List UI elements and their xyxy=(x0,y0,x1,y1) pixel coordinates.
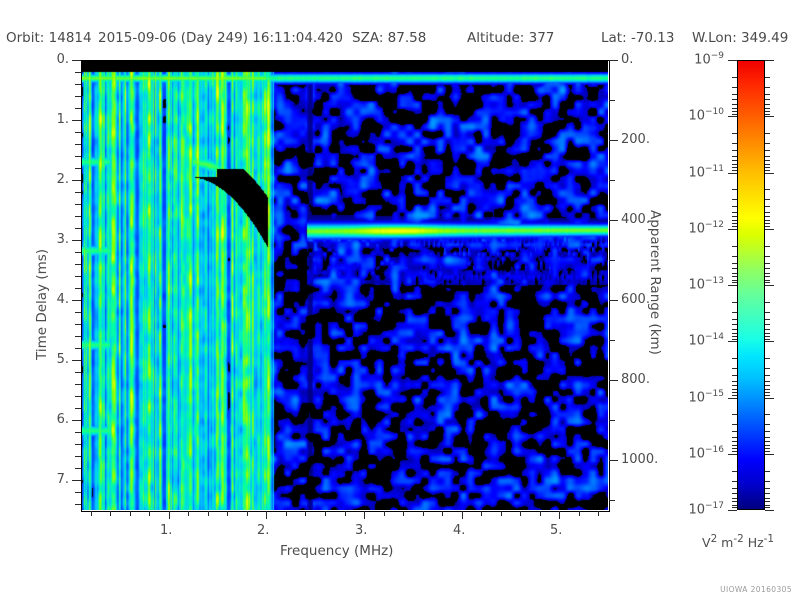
axis-tick xyxy=(609,140,618,141)
y-axis-title: Time Delay (ms) xyxy=(34,249,50,360)
axis-tick xyxy=(75,456,81,457)
axis-tick-label: 2. xyxy=(57,172,69,187)
axis-tick xyxy=(75,384,81,385)
axis-tick xyxy=(501,511,502,516)
axis-tick xyxy=(732,143,737,144)
axis-tick xyxy=(75,408,81,409)
axis-tick xyxy=(732,339,737,340)
header-value-0: 14814 xyxy=(49,30,92,46)
axis-tick xyxy=(728,116,737,117)
axis-tick xyxy=(325,511,326,516)
axis-tick-label: 0. xyxy=(57,52,69,67)
axis-tick xyxy=(75,216,81,217)
axis-tick-label: 7. xyxy=(57,472,69,487)
axis-tick xyxy=(75,276,81,277)
axis-tick xyxy=(765,488,770,489)
axis-tick xyxy=(765,226,770,227)
axis-tick xyxy=(75,396,81,397)
axis-tick xyxy=(169,511,170,519)
axis-tick xyxy=(765,77,770,78)
ionogram-spectrogram-canvas xyxy=(81,60,608,510)
header-label-3: Altitude: xyxy=(467,30,524,46)
axis-tick xyxy=(609,460,618,461)
axis-tick xyxy=(765,156,770,157)
axis-tick xyxy=(732,164,737,165)
axis-tick xyxy=(765,336,770,337)
axis-tick xyxy=(765,220,770,221)
axis-tick xyxy=(728,341,737,342)
axis-tick xyxy=(75,312,81,313)
axis-tick xyxy=(609,380,618,381)
header-label-2: SZA: xyxy=(352,30,383,46)
axis-tick xyxy=(732,256,737,257)
axis-tick xyxy=(732,133,737,134)
axis-tick xyxy=(345,511,346,516)
axis-tick xyxy=(765,116,774,117)
axis-tick xyxy=(208,511,209,516)
axis-tick xyxy=(732,223,737,224)
axis-tick xyxy=(540,511,541,516)
axis-tick xyxy=(728,398,737,399)
axis-tick xyxy=(728,173,737,174)
axis-tick-label: 5. xyxy=(57,352,69,367)
axis-tick xyxy=(732,104,737,105)
axis-tick xyxy=(75,252,81,253)
axis-tick xyxy=(765,319,770,320)
axis-tick xyxy=(305,511,306,516)
header-value-4: -70.13 xyxy=(631,30,675,46)
axis-tick xyxy=(75,168,81,169)
axis-tick xyxy=(732,312,737,313)
axis-tick xyxy=(765,143,770,144)
axis-tick xyxy=(765,223,770,224)
axis-tick xyxy=(75,228,81,229)
axis-tick xyxy=(732,385,737,386)
axis-tick xyxy=(765,312,770,313)
axis-tick xyxy=(765,114,770,115)
axis-tick xyxy=(765,282,770,283)
axis-tick xyxy=(732,448,737,449)
axis-tick xyxy=(765,471,770,472)
axis-tick xyxy=(765,164,770,165)
axis-tick xyxy=(266,511,267,519)
axis-tick xyxy=(765,104,770,105)
colorbar-tick-label: 10−10 xyxy=(688,107,724,123)
axis-tick xyxy=(732,441,737,442)
axis-tick xyxy=(765,216,770,217)
axis-tick xyxy=(765,276,770,277)
axis-tick xyxy=(75,204,81,205)
axis-tick xyxy=(728,60,737,61)
axis-tick xyxy=(732,358,737,359)
axis-tick xyxy=(765,111,770,112)
axis-tick xyxy=(765,507,770,508)
axis-tick xyxy=(72,180,81,181)
axis-tick xyxy=(732,481,737,482)
axis-tick xyxy=(765,395,770,396)
axis-tick xyxy=(732,170,737,171)
axis-tick xyxy=(732,437,737,438)
y2-axis-title: Apparent Range (km) xyxy=(647,210,663,355)
axis-tick xyxy=(732,111,737,112)
axis-tick xyxy=(732,206,737,207)
axis-tick-label: 4. xyxy=(453,523,465,538)
axis-tick xyxy=(765,268,770,269)
axis-tick xyxy=(732,375,737,376)
ionogram-plot-area xyxy=(81,60,608,510)
axis-tick xyxy=(598,511,599,516)
axis-tick xyxy=(765,108,770,109)
axis-tick xyxy=(609,60,618,61)
axis-tick xyxy=(75,504,81,505)
colorbar-unit-label: V2 m-2 Hz-1 xyxy=(702,533,774,550)
axis-tick xyxy=(72,120,81,121)
header-value-3: 377 xyxy=(529,30,555,46)
axis-tick xyxy=(732,280,737,281)
axis-tick xyxy=(765,498,770,499)
axis-tick-label: 3. xyxy=(57,232,69,247)
axis-tick xyxy=(728,285,737,286)
axis-tick xyxy=(732,381,737,382)
axis-tick xyxy=(75,288,81,289)
axis-tick xyxy=(72,480,81,481)
axis-tick xyxy=(732,395,737,396)
axis-tick xyxy=(765,199,770,200)
header-label-5: W.Lon: xyxy=(692,30,737,46)
axis-tick xyxy=(130,511,131,516)
source-credit: UIOWA 20160305 xyxy=(720,585,792,594)
axis-tick xyxy=(384,511,385,516)
axis-tick xyxy=(732,424,737,425)
axis-tick xyxy=(75,372,81,373)
header-field-5: W.Lon: 349.49 xyxy=(692,30,788,46)
axis-tick xyxy=(732,501,737,502)
axis-tick xyxy=(75,264,81,265)
header-field-3: Altitude: 377 xyxy=(467,30,554,46)
axis-tick xyxy=(75,132,81,133)
axis-tick xyxy=(732,212,737,213)
axis-tick xyxy=(609,340,615,341)
axis-tick xyxy=(765,389,770,390)
axis-tick xyxy=(75,336,81,337)
axis-tick xyxy=(609,220,618,221)
axis-tick xyxy=(75,156,81,157)
axis-tick xyxy=(609,260,615,261)
axis-tick xyxy=(75,492,81,493)
colorbar-tick-label: 10−15 xyxy=(688,389,724,405)
axis-tick xyxy=(732,507,737,508)
axis-tick xyxy=(286,511,287,516)
axis-tick xyxy=(765,229,774,230)
axis-tick-label: 1. xyxy=(57,112,69,127)
axis-tick xyxy=(732,199,737,200)
axis-tick xyxy=(765,280,770,281)
axis-tick xyxy=(765,368,770,369)
axis-tick xyxy=(765,150,770,151)
axis-tick xyxy=(732,77,737,78)
axis-tick xyxy=(732,167,737,168)
axis-tick xyxy=(609,100,615,101)
axis-tick xyxy=(732,505,737,506)
axis-tick xyxy=(72,420,81,421)
axis-tick xyxy=(732,87,737,88)
axis-tick xyxy=(765,448,770,449)
axis-tick xyxy=(732,488,737,489)
axis-tick xyxy=(75,432,81,433)
axis-tick xyxy=(765,246,770,247)
axis-tick xyxy=(227,511,228,516)
header-field-2: SZA: 87.58 xyxy=(352,30,426,46)
axis-tick xyxy=(765,493,770,494)
axis-tick xyxy=(765,212,770,213)
axis-tick xyxy=(110,511,111,516)
header-value-5: 349.49 xyxy=(741,30,788,46)
axis-tick xyxy=(732,160,737,161)
axis-tick-label: 4. xyxy=(57,292,69,307)
axis-tick-label: 3. xyxy=(355,523,367,538)
axis-tick xyxy=(728,454,737,455)
axis-tick xyxy=(75,324,81,325)
axis-tick xyxy=(732,99,737,100)
axis-tick xyxy=(732,156,737,157)
axis-tick xyxy=(520,511,521,516)
axis-tick xyxy=(609,300,618,301)
axis-tick-label: 5. xyxy=(550,523,562,538)
axis-tick xyxy=(765,99,770,100)
axis-tick xyxy=(188,511,189,516)
axis-tick xyxy=(765,94,770,95)
axis-tick xyxy=(765,256,770,257)
axis-tick xyxy=(462,511,463,519)
axis-tick xyxy=(75,444,81,445)
axis-tick xyxy=(765,60,774,61)
axis-tick xyxy=(765,392,770,393)
axis-tick xyxy=(765,160,770,161)
axis-tick xyxy=(442,511,443,516)
axis-tick xyxy=(732,392,737,393)
axis-tick xyxy=(609,420,615,421)
axis-tick xyxy=(732,333,737,334)
axis-tick xyxy=(765,501,770,502)
axis-tick xyxy=(732,445,737,446)
axis-tick xyxy=(765,170,770,171)
axis-tick xyxy=(149,511,150,516)
axis-tick-label: 200. xyxy=(621,132,650,147)
axis-tick xyxy=(765,385,770,386)
axis-tick xyxy=(75,96,81,97)
axis-tick xyxy=(732,150,737,151)
axis-tick xyxy=(732,319,737,320)
axis-tick-label: 0. xyxy=(621,52,633,67)
axis-tick xyxy=(609,180,615,181)
axis-tick xyxy=(765,189,770,190)
axis-tick xyxy=(75,108,81,109)
axis-tick-label: 6. xyxy=(57,412,69,427)
axis-tick xyxy=(732,216,737,217)
axis-tick xyxy=(91,511,92,516)
colorbar-tick-label: 10−11 xyxy=(688,164,724,180)
colorbar-tick-label: 10−14 xyxy=(688,332,724,348)
axis-tick xyxy=(732,276,737,277)
axis-tick xyxy=(732,226,737,227)
axis-tick xyxy=(75,144,81,145)
axis-tick xyxy=(765,481,770,482)
colorbar-tick-label: 10−12 xyxy=(688,220,724,236)
metadata-header: Orbit: 148142015-09-06 (Day 249) 16:11:0… xyxy=(0,30,800,50)
axis-tick xyxy=(765,324,770,325)
axis-tick xyxy=(75,72,81,73)
x-axis-title: Frequency (MHz) xyxy=(280,543,393,559)
axis-tick xyxy=(732,189,737,190)
axis-tick xyxy=(559,511,560,519)
axis-tick xyxy=(765,206,770,207)
axis-tick xyxy=(732,471,737,472)
axis-tick xyxy=(765,302,770,303)
axis-tick xyxy=(765,510,774,511)
axis-tick xyxy=(75,468,81,469)
axis-tick xyxy=(728,510,737,511)
axis-tick xyxy=(765,414,770,415)
axis-tick xyxy=(579,511,580,516)
axis-tick xyxy=(765,398,774,399)
colorbar-tick-label: 10−9 xyxy=(694,51,724,67)
header-value-2: 87.58 xyxy=(388,30,427,46)
axis-tick xyxy=(732,114,737,115)
axis-tick xyxy=(72,300,81,301)
axis-tick xyxy=(423,511,424,516)
axis-tick xyxy=(364,511,365,519)
axis-tick xyxy=(765,505,770,506)
axis-tick xyxy=(732,431,737,432)
axis-tick xyxy=(765,133,770,134)
axis-tick xyxy=(732,268,737,269)
axis-tick xyxy=(765,445,770,446)
axis-tick xyxy=(75,348,81,349)
axis-tick-label: 400. xyxy=(621,212,650,227)
axis-tick xyxy=(481,511,482,516)
axis-tick xyxy=(732,368,737,369)
axis-tick-label: 2. xyxy=(257,523,269,538)
header-label-0: Orbit: xyxy=(6,30,44,46)
axis-tick-label: 1000. xyxy=(621,452,658,467)
axis-tick xyxy=(765,437,770,438)
axis-tick xyxy=(732,246,737,247)
header-label-4: Lat: xyxy=(601,30,627,46)
axis-tick xyxy=(732,302,737,303)
axis-tick xyxy=(728,229,737,230)
axis-tick xyxy=(247,511,248,516)
axis-tick xyxy=(765,87,770,88)
axis-tick-label: 800. xyxy=(621,372,650,387)
axis-tick xyxy=(732,282,737,283)
colorbar-tick-label: 10−17 xyxy=(688,501,724,517)
axis-tick xyxy=(732,329,737,330)
axis-tick xyxy=(72,60,81,61)
axis-tick xyxy=(765,285,774,286)
axis-tick xyxy=(732,273,737,274)
axis-tick xyxy=(732,414,737,415)
axis-tick xyxy=(732,389,737,390)
axis-tick xyxy=(765,273,770,274)
axis-tick xyxy=(732,94,737,95)
axis-tick xyxy=(72,240,81,241)
axis-tick xyxy=(765,339,770,340)
axis-tick xyxy=(765,454,774,455)
axis-tick xyxy=(765,173,774,174)
header-field-0: Orbit: 14814 xyxy=(6,30,92,46)
header-field-4: Lat: -70.13 xyxy=(601,30,674,46)
colorbar-tick-label: 10−13 xyxy=(688,276,724,292)
axis-tick xyxy=(765,358,770,359)
axis-tick xyxy=(609,500,615,501)
axis-tick xyxy=(765,441,770,442)
axis-tick xyxy=(732,451,737,452)
axis-tick xyxy=(765,424,770,425)
colorbar-tick-label: 10−16 xyxy=(688,445,724,461)
axis-tick xyxy=(732,493,737,494)
axis-tick xyxy=(732,263,737,264)
axis-tick xyxy=(732,108,737,109)
axis-tick xyxy=(403,511,404,516)
axis-tick xyxy=(765,167,770,168)
axis-tick-label: 1. xyxy=(160,523,172,538)
axis-tick xyxy=(75,84,81,85)
axis-tick-label: 600. xyxy=(621,292,650,307)
axis-tick xyxy=(732,324,737,325)
axis-tick xyxy=(765,263,770,264)
axis-tick xyxy=(732,220,737,221)
axis-tick xyxy=(732,336,737,337)
intensity-colorbar xyxy=(737,60,765,510)
axis-tick xyxy=(72,360,81,361)
axis-tick xyxy=(765,375,770,376)
axis-tick xyxy=(765,333,770,334)
header-value-1: 2015-09-06 (Day 249) 16:11:04.420 xyxy=(98,30,343,46)
axis-tick xyxy=(765,329,770,330)
axis-tick xyxy=(75,192,81,193)
axis-tick xyxy=(732,498,737,499)
axis-tick xyxy=(765,451,770,452)
axis-tick xyxy=(765,381,770,382)
axis-tick xyxy=(765,431,770,432)
axis-tick xyxy=(765,341,774,342)
header-field-1: 2015-09-06 (Day 249) 16:11:04.420 xyxy=(98,30,343,46)
